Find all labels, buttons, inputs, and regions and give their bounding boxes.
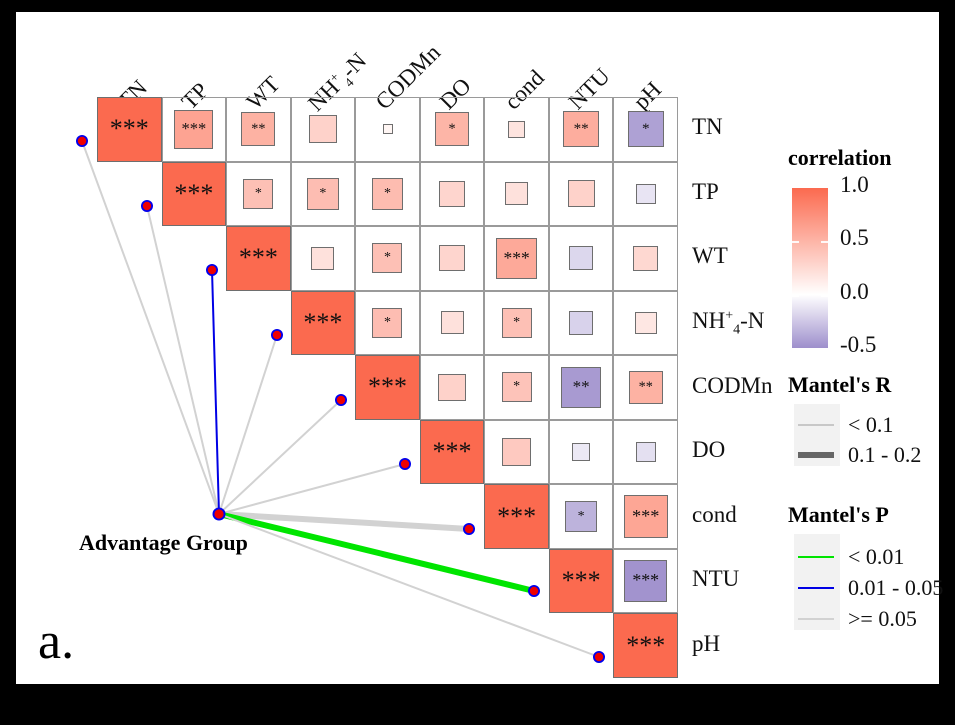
significance-stars: *	[319, 187, 326, 201]
correlation-square: ***	[226, 226, 291, 291]
mantel-r-legend-label: 0.1 - 0.2	[848, 442, 921, 468]
correlation-square: *	[372, 308, 402, 338]
correlation-matrix: ****************************************…	[97, 97, 678, 678]
row-label-cond: cond	[692, 502, 737, 528]
colorbar-tick-label: 1.0	[840, 172, 869, 198]
correlation-square	[383, 124, 393, 134]
correlation-square	[441, 311, 464, 334]
correlation-square: *	[502, 372, 532, 402]
correlation-square	[502, 438, 530, 466]
correlation-square: ***	[624, 495, 668, 539]
row-label-ntu: NTU	[692, 566, 739, 592]
correlation-square: ***	[496, 238, 537, 279]
correlation-square: ***	[420, 420, 485, 485]
correlation-square: ***	[613, 613, 678, 678]
correlation-square	[309, 115, 337, 143]
significance-stars: *	[578, 510, 585, 524]
correlation-square: **	[561, 367, 601, 407]
mantel-node-tn	[78, 137, 86, 145]
hub-label: Advantage Group	[79, 530, 248, 556]
correlation-square	[636, 184, 656, 204]
row-label-nh-4-n: NH+4-N	[692, 308, 764, 339]
mantel-p-line-swatch	[798, 618, 834, 620]
mantel-p-legend-label: >= 0.05	[848, 606, 917, 632]
significance-stars: *	[384, 187, 391, 201]
mantel-r-line-swatch	[798, 452, 834, 458]
significance-stars: ***	[433, 439, 472, 465]
significance-stars: ***	[562, 568, 601, 594]
mantel-p-legend-item: 0.01 - 0.05	[798, 575, 943, 601]
row-label-ph: pH	[692, 631, 720, 657]
correlation-square: *	[372, 243, 402, 273]
significance-stars: **	[574, 122, 589, 137]
significance-stars: ***	[504, 250, 530, 267]
colorbar-tick-label: 0.0	[840, 279, 869, 305]
figure-root: TNTPWTNH+4-NCODMnDOcondNTUpH ***********…	[0, 0, 955, 725]
significance-stars: ***	[181, 121, 206, 138]
colorbar-notch	[821, 241, 828, 243]
correlation-square: *	[243, 179, 273, 209]
correlation-square: *	[435, 112, 469, 146]
correlation-square: ***	[484, 484, 549, 549]
correlation-square: **	[629, 371, 663, 405]
significance-stars: *	[642, 122, 650, 137]
significance-stars: ***	[632, 572, 659, 590]
correlation-square	[633, 246, 658, 271]
mantel-p-legend-title: Mantel's P	[788, 502, 889, 528]
correlation-square: ***	[291, 291, 356, 356]
significance-stars: ***	[239, 245, 278, 271]
correlation-square: **	[563, 111, 599, 147]
correlation-square: ***	[549, 549, 614, 614]
mantel-r-legend-title: Mantel's R	[788, 372, 891, 398]
significance-stars: *	[513, 380, 520, 394]
significance-stars: *	[449, 122, 456, 136]
mantel-p-line-swatch	[798, 556, 834, 558]
significance-stars: ***	[632, 507, 660, 525]
mantel-r-legend-label: < 0.1	[848, 412, 893, 438]
correlation-square	[508, 121, 525, 138]
correlation-square: **	[241, 112, 275, 146]
correlation-square: ***	[97, 97, 162, 162]
correlation-square	[636, 442, 656, 462]
colorbar-notch	[792, 295, 799, 297]
row-label-codmn: CODMn	[692, 373, 773, 399]
correlation-square	[505, 182, 528, 205]
panel-letter: a.	[38, 612, 74, 671]
significance-stars: *	[513, 316, 520, 330]
row-label-tn: TN	[692, 114, 723, 140]
correlation-square: ***	[355, 355, 420, 420]
correlation-square	[438, 374, 465, 401]
mantel-p-legend-item: >= 0.05	[798, 606, 917, 632]
correlation-square	[439, 245, 465, 271]
row-label-tp: TP	[692, 179, 719, 205]
mantel-r-line-swatch	[798, 424, 834, 426]
significance-stars: **	[251, 122, 265, 136]
correlation-square	[572, 443, 589, 460]
significance-stars: *	[384, 251, 391, 265]
colorbar-notch	[792, 241, 799, 243]
colorbar-tick-label: -0.5	[840, 332, 876, 358]
correlation-square	[439, 181, 465, 207]
correlation-square: *	[628, 111, 664, 147]
significance-stars: ***	[368, 374, 407, 400]
row-label-do: DO	[692, 437, 725, 463]
mantel-p-legend-label: 0.01 - 0.05	[848, 575, 943, 601]
significance-stars: **	[573, 379, 590, 396]
mantel-p-legend-item: < 0.01	[798, 544, 904, 570]
colorbar-tick-label: 0.5	[840, 225, 869, 251]
row-label-wt: WT	[692, 243, 728, 269]
correlation-square	[311, 247, 334, 270]
significance-stars: *	[384, 316, 391, 330]
mantel-p-legend-label: < 0.01	[848, 544, 904, 570]
significance-stars: *	[255, 187, 262, 201]
mantel-node-halo	[76, 135, 88, 147]
mantel-r-legend-item: 0.1 - 0.2	[798, 442, 921, 468]
correlation-legend-title: correlation	[788, 145, 891, 171]
correlation-square: ***	[624, 560, 667, 603]
mantel-r-legend-item: < 0.1	[798, 412, 893, 438]
mantel-p-line-swatch	[798, 587, 834, 589]
significance-stars: **	[639, 380, 653, 394]
figure-panel: TNTPWTNH+4-NCODMnDOcondNTUpH ***********…	[16, 12, 939, 684]
significance-stars: ***	[626, 633, 665, 659]
correlation-colorbar	[792, 188, 828, 348]
correlation-square	[569, 311, 593, 335]
correlation-square: *	[372, 178, 404, 210]
correlation-square	[635, 312, 657, 334]
correlation-square	[569, 246, 593, 270]
significance-stars: ***	[174, 181, 213, 207]
colorbar-notch	[821, 295, 828, 297]
correlation-square: *	[502, 308, 532, 338]
correlation-square: *	[565, 501, 597, 533]
correlation-square	[568, 180, 595, 207]
correlation-square: ***	[174, 110, 213, 149]
correlation-square: *	[307, 178, 339, 210]
significance-stars: ***	[497, 504, 536, 530]
significance-stars: ***	[110, 116, 149, 142]
correlation-square: ***	[162, 162, 227, 227]
significance-stars: ***	[303, 310, 342, 336]
